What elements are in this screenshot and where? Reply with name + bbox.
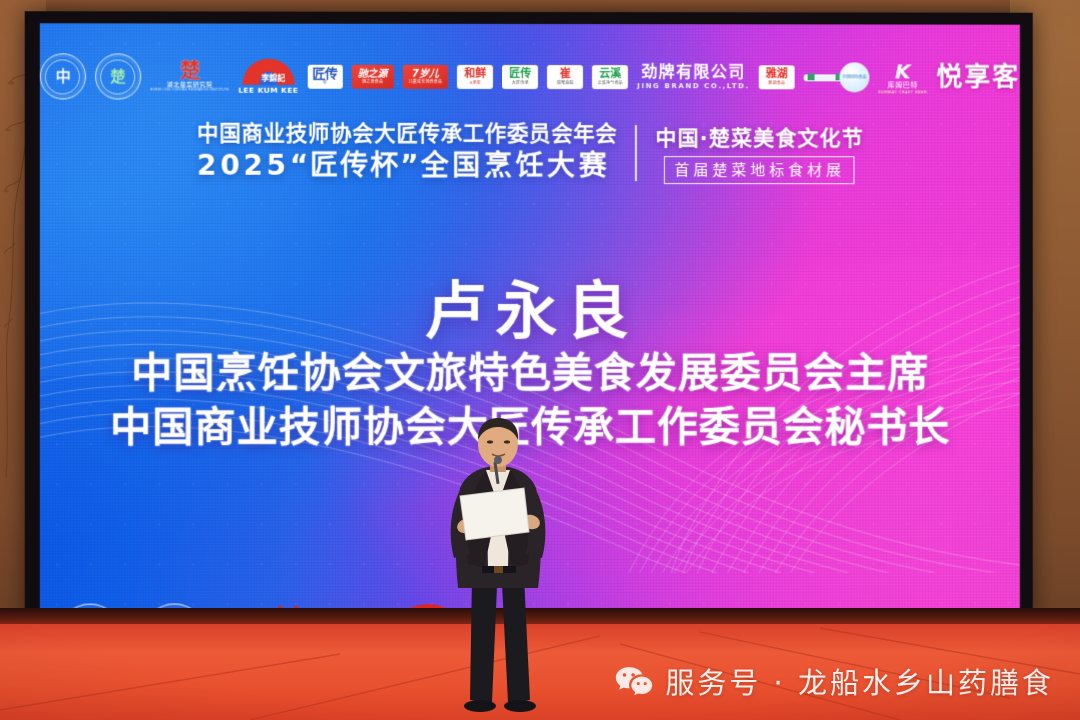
- expo-name: 首届楚菜地标食材展: [664, 156, 855, 184]
- kumbat-cn: 库姆巴特: [888, 82, 918, 89]
- chip-title: 云溪: [599, 68, 621, 80]
- seal-glyph: 中: [56, 69, 70, 84]
- sponsor-logo-chu: 楚 湖北楚菜研究院 HUBEI CHU CUISINE RESEARCH INS…: [150, 61, 229, 93]
- chu-sub-en: HUBEI CHU CUISINE RESEARCH INSTITUTE: [150, 89, 229, 93]
- chip-sub: 雅湖食品: [768, 82, 785, 86]
- presenter-figure: [398, 418, 598, 718]
- event-title-line2: 2025“匠传杯”全国烹饪大赛: [197, 148, 617, 183]
- top-sponsor-band: 中 楚 楚 湖北楚菜研究院 HUBEI CHU CUISINE RESEARCH…: [40, 49, 1020, 104]
- jing-brand-en: JING BRAND CO.,LTD.: [637, 83, 750, 90]
- chip-title: 匠传: [509, 68, 531, 80]
- sponsor-logo-yahu: 雅湖 雅湖食品: [759, 66, 795, 89]
- chip-sub: 驰之源食品: [362, 80, 383, 84]
- sponsor-logo-cuijia-oil: 崔 碳嗖油脂: [547, 65, 583, 89]
- registered-mark: ®: [322, 81, 327, 86]
- speaker-name: 卢永良: [40, 279, 1020, 344]
- chu-mark: 楚: [180, 61, 199, 81]
- sponsor-logo-yuexiangke: 悦享客 ®: [936, 65, 1019, 91]
- lkk-hanzi: 李錦記: [261, 75, 285, 83]
- chip-sub: 云溪净气食品: [598, 81, 623, 85]
- sponsor-logo-chizhiyuan: 驰之源 驰之源食品: [351, 65, 393, 88]
- event-competition: 全国烹饪大赛: [421, 149, 611, 182]
- chip-sub: 碳嗖油脂: [557, 81, 574, 85]
- sponsor-logo-lee-kum-kee: 李錦記 LEE KUM KEE: [238, 59, 298, 95]
- chip-sub: 0添加: [470, 81, 481, 85]
- event-cup-name: “匠传杯”: [290, 149, 421, 182]
- sponsor-logo-kumbat: K 库姆巴特 KUMBAT CRAFT BEER: [878, 61, 927, 94]
- kumbat-en: KUMBAT CRAFT BEER: [878, 90, 927, 94]
- sponsor-logo-jiangchuan: 匠传 ®: [307, 65, 342, 89]
- stage-photo: 中 楚 楚 湖北楚菜研究院 HUBEI CHU CUISINE RESEARCH…: [0, 0, 1080, 720]
- sponsor-logo-qisuier: 7岁儿 儿童成长营养食品: [403, 65, 449, 88]
- sponsor-logo-hexian: 和鲜 0添加: [457, 65, 493, 89]
- speaker-role-line1: 中国烹饪协会文旅特色美食发展委员会主席: [40, 348, 1020, 398]
- sponsor-logo-jiangchuan-green: 匠传 大匠传承: [502, 65, 538, 89]
- wechat-icon: [615, 665, 653, 697]
- title-divider: [635, 125, 637, 181]
- chip-title: 和鲜: [464, 68, 486, 80]
- sponsor-logo-cbta: 中: [40, 53, 86, 99]
- wechat-watermark: 服务号 · 龙船水乡山药膳食: [615, 660, 1054, 702]
- sponsor-logo-yunqi: 云溪 云溪净气食品: [592, 65, 628, 89]
- chip-title: 雅湖: [766, 69, 788, 81]
- watermark-text: 服务号 · 龙船水乡山药膳食: [665, 660, 1054, 702]
- festival-name: 中国·楚菜美食文化节: [655, 122, 864, 152]
- event-title-left: 中国商业技师协会大匠传承工作委员会年会 2025“匠传杯”全国烹饪大赛: [197, 122, 617, 183]
- event-title-block: 中国商业技师协会大匠传承工作委员会年会 2025“匠传杯”全国烹饪大赛 中国·楚…: [40, 122, 1020, 185]
- sponsor-logo-jing-brand: 劲牌有限公司 JING BRAND CO.,LTD.: [637, 64, 750, 90]
- lkk-en: LEE KUM KEE: [238, 87, 298, 95]
- capsule-ball-text: 中国绿色食品: [842, 75, 866, 79]
- seal-glyph: 楚: [110, 69, 125, 84]
- event-title-line1: 中国商业技师协会大匠传承工作委员会年会: [197, 122, 617, 147]
- event-title-right: 中国·楚菜美食文化节 首届楚菜地标食材展: [655, 122, 864, 184]
- chip-title: 崔: [560, 68, 571, 80]
- chip-sub: 大匠传承: [512, 81, 529, 85]
- event-year: 2025: [197, 149, 290, 182]
- jing-brand-cn: 劲牌有限公司: [641, 64, 745, 81]
- kumbat-k: K: [895, 61, 910, 81]
- sponsor-logo-capsule: 中国绿色食品: [804, 66, 870, 88]
- chip-sub: 儿童成长营养食品: [409, 80, 443, 84]
- yuexiangke-text: 悦享客: [936, 63, 1019, 93]
- sponsor-logo-green-seal: 楚: [95, 53, 141, 99]
